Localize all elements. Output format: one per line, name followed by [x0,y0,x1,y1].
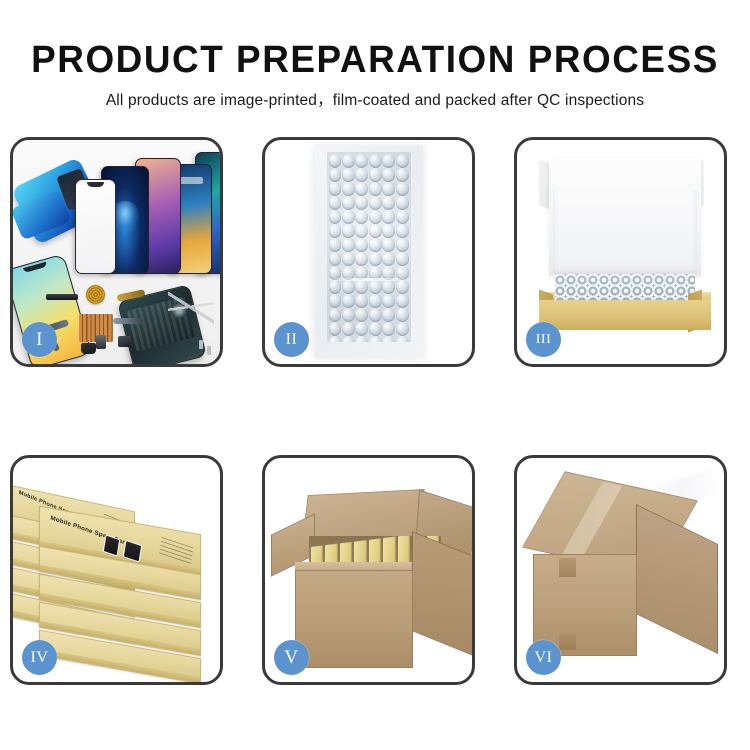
bubble [355,322,368,336]
bubble [382,280,395,294]
step-badge-3: III [526,322,561,357]
step-panel-3: III [514,137,727,367]
bubble [355,308,368,322]
bubble-wrap-seam [327,278,411,281]
flex-cable-d-icon [113,318,143,324]
bubble [396,294,409,308]
bubble [369,280,382,294]
bubble [396,280,409,294]
step-badge-6: VI [526,640,561,675]
bubble [329,196,342,210]
step-panel-1: I [10,137,223,367]
screw-icon [207,346,211,355]
bubble [396,210,409,224]
bubble [396,322,409,336]
bubble [382,308,395,322]
page-subtitle: All products are image-printed，film-coat… [0,91,750,111]
bubble [342,182,355,196]
bubble [382,168,395,182]
bubble [369,154,382,168]
earpiece-part-icon [46,294,78,300]
bubble [382,196,395,210]
process-steps-grid: I II [10,137,744,685]
bubble [382,252,395,266]
bubble [329,224,342,238]
bubble [382,210,395,224]
bubble [355,252,368,266]
tweezers-icon [168,290,214,324]
bubble [342,336,355,342]
bubble [382,294,395,308]
bubble [369,224,382,238]
bubble [342,168,355,182]
step-panel-6: VI [514,455,727,685]
bubble [355,280,368,294]
bubble [369,196,382,210]
step-panel-2: II [262,137,475,367]
bubble [396,238,409,252]
bubble [342,280,355,294]
bubble [342,238,355,252]
bubble-grid [327,152,411,342]
bubble [396,182,409,196]
bubble [382,322,395,336]
bubble-wrap-sheet [327,152,411,342]
bubble [355,168,368,182]
bubble [329,182,342,196]
battery-connector-part-icon [96,335,106,349]
bubble [329,252,342,266]
bubble [396,224,409,238]
bubble [382,154,395,168]
bubble-wrapped-contents [555,274,695,302]
bubble [369,210,382,224]
bubble [329,322,342,336]
bubble [369,294,382,308]
bubble [342,252,355,266]
bubble [329,294,342,308]
bubble [355,294,368,308]
page-header: PRODUCT PREPARATION PROCESS All products… [0,0,750,111]
bubble [369,168,382,182]
bubble [396,252,409,266]
bubble [342,224,355,238]
bubble [329,336,342,342]
carton-flap-tab-upper [559,558,576,577]
bubble [355,238,368,252]
carton-side-right [636,504,718,654]
step-panel-4: Mobile Phone Spare Parts Mobile Phone Sp… [10,455,223,685]
bubble [355,196,368,210]
phone-screen-fan [73,154,220,274]
bubble [355,224,368,238]
bubble [369,308,382,322]
foam-insert [553,190,697,274]
bubble [382,224,395,238]
bubble [355,336,368,342]
step-badge-5: V [274,640,309,675]
bubble [342,294,355,308]
bubble [396,168,409,182]
bubble [396,336,409,342]
speaker-part-icon [81,343,96,354]
bubble [329,168,342,182]
bubble [382,238,395,252]
bubble [342,210,355,224]
bubble [369,182,382,196]
bubble [396,154,409,168]
bubble [329,238,342,252]
bubble [369,252,382,266]
bubble [329,154,342,168]
bubble [369,238,382,252]
bubble [329,210,342,224]
bubble [369,336,382,342]
camera-module-part-icon [118,336,131,347]
bubble [396,196,409,210]
kraft-box-front [539,300,711,330]
bubble [355,210,368,224]
step-badge-1: I [22,322,57,357]
copper-coil-part-icon [86,285,105,304]
bubble [342,322,355,336]
bubble [342,196,355,210]
step-badge-2: II [274,322,309,357]
bubble [342,154,355,168]
page-title: PRODUCT PREPARATION PROCESS [11,38,739,82]
carton-front-face [295,570,413,668]
screw-icon [199,340,203,349]
bubble [355,154,368,168]
bubble [396,308,409,322]
step-panel-5: V [262,455,475,685]
bubble [329,308,342,322]
step-badge-4: IV [22,640,57,675]
product-preparation-page: PRODUCT PREPARATION PROCESS All products… [0,0,750,750]
bubble [369,322,382,336]
phone-screen-white-icon [75,179,116,274]
bubble [382,336,395,342]
bubble [329,280,342,294]
bubble [355,182,368,196]
carton-flap-tab-lower [559,634,576,650]
bubble [342,308,355,322]
bubble [382,182,395,196]
